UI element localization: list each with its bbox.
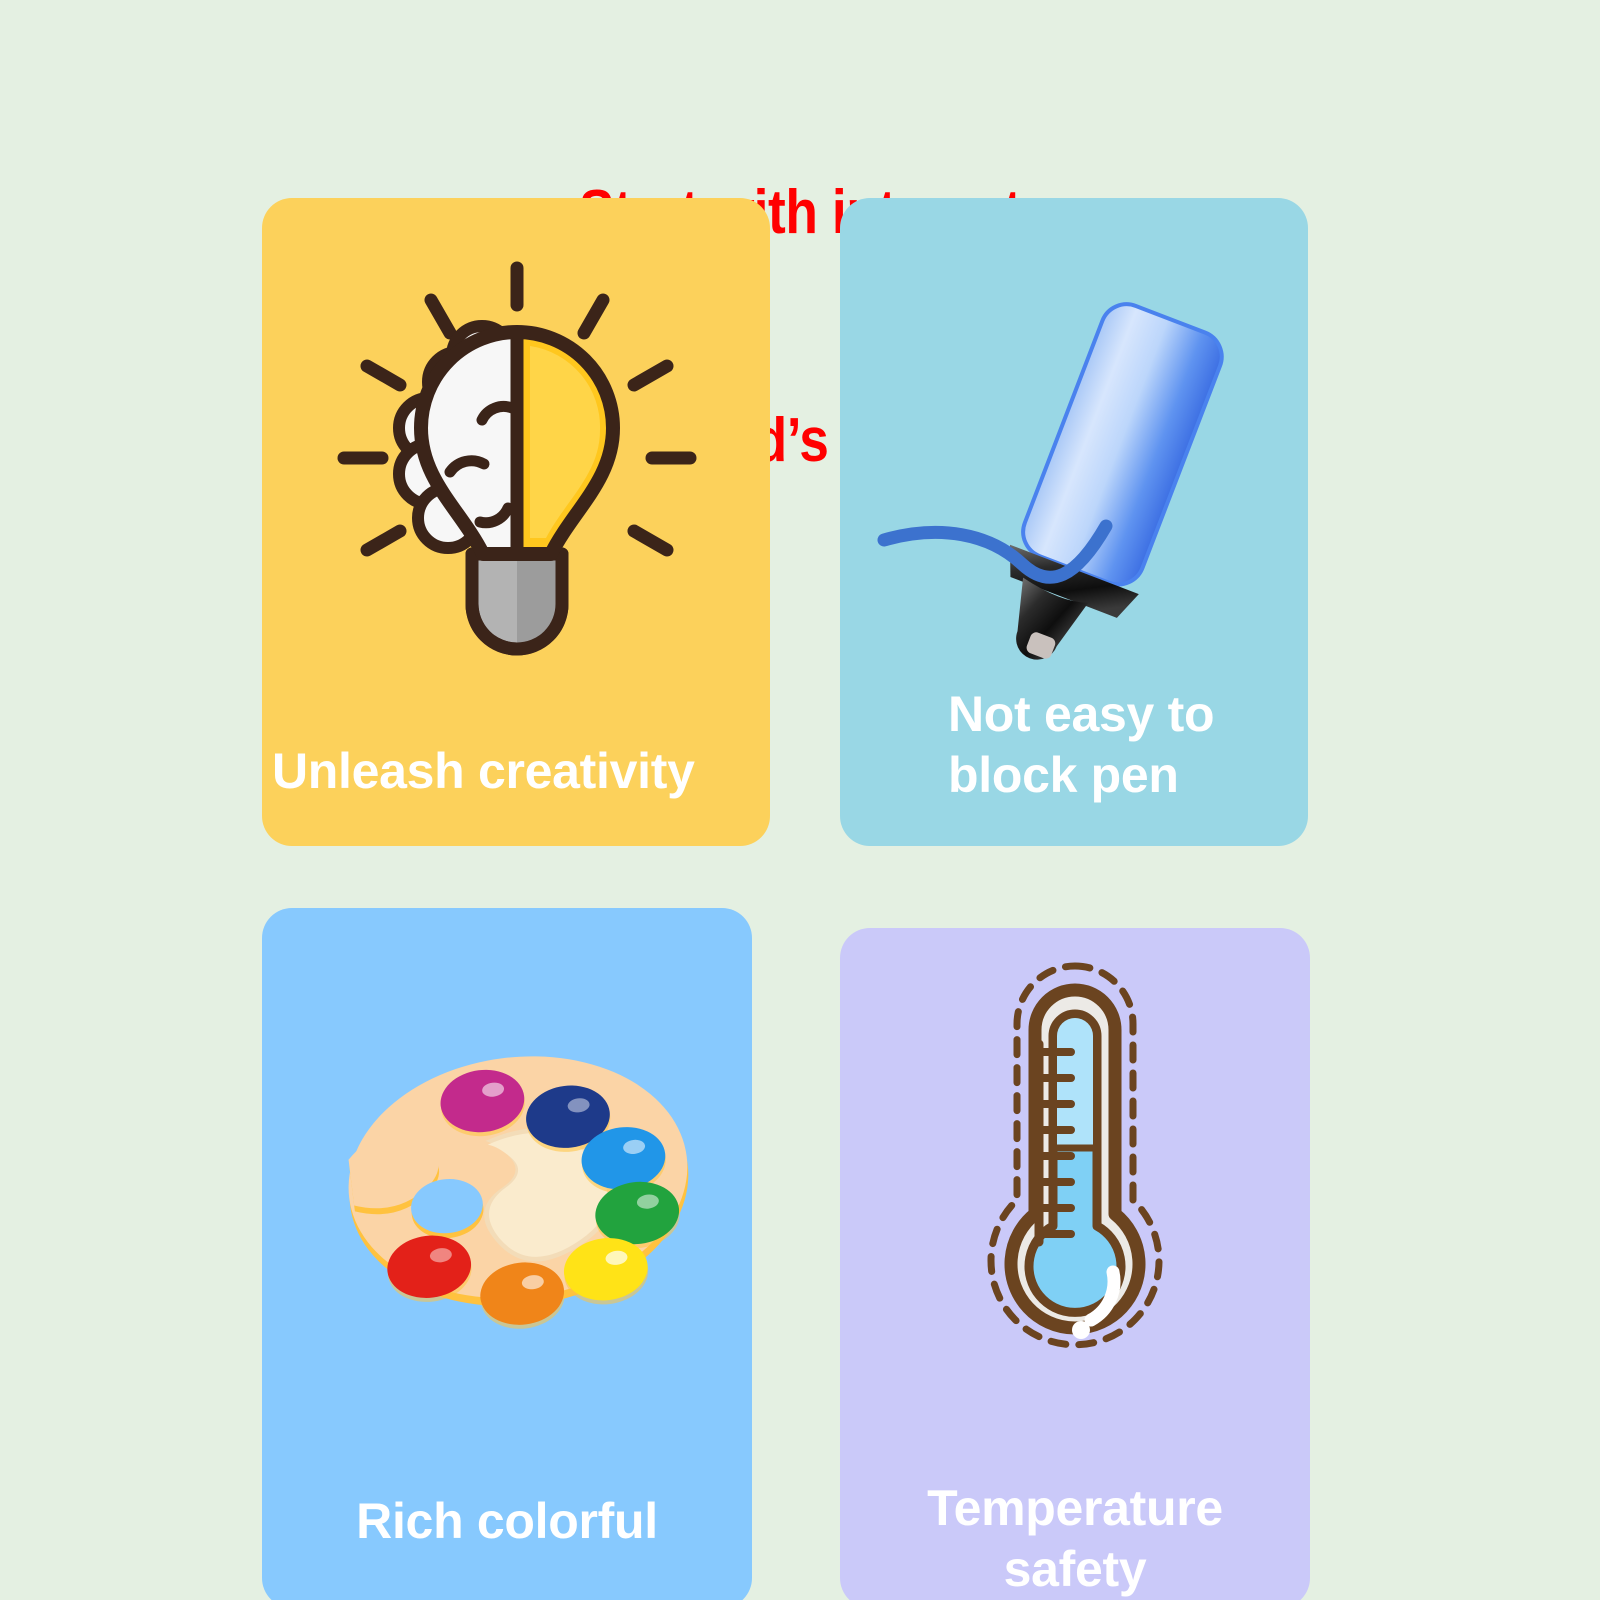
lightbulb-brain-icon [332, 260, 702, 660]
marker-pen-icon [870, 278, 1270, 698]
thermometer-icon [935, 948, 1215, 1398]
card-label-rich-colorful: Rich colorful [262, 1491, 752, 1552]
feature-card-not-easy-to-block-pen[interactable]: Not easy to block pen [840, 198, 1308, 846]
paint-palette-icon [322, 1018, 702, 1338]
feature-card-temperature-safety[interactable]: Temperature safety [840, 928, 1310, 1600]
card-label-not-easy-to-block-pen: Not easy to block pen [948, 684, 1308, 806]
card-label-temperature-safety: Temperature safety [840, 1478, 1310, 1600]
infographic-page: Start with interest Release the child’s … [0, 0, 1600, 1600]
feature-card-rich-colorful[interactable]: Rich colorful [262, 908, 752, 1600]
feature-card-unleash-creativity[interactable]: Unleash creativity [262, 198, 770, 846]
card-label-unleash-creativity: Unleash creativity [272, 741, 770, 802]
